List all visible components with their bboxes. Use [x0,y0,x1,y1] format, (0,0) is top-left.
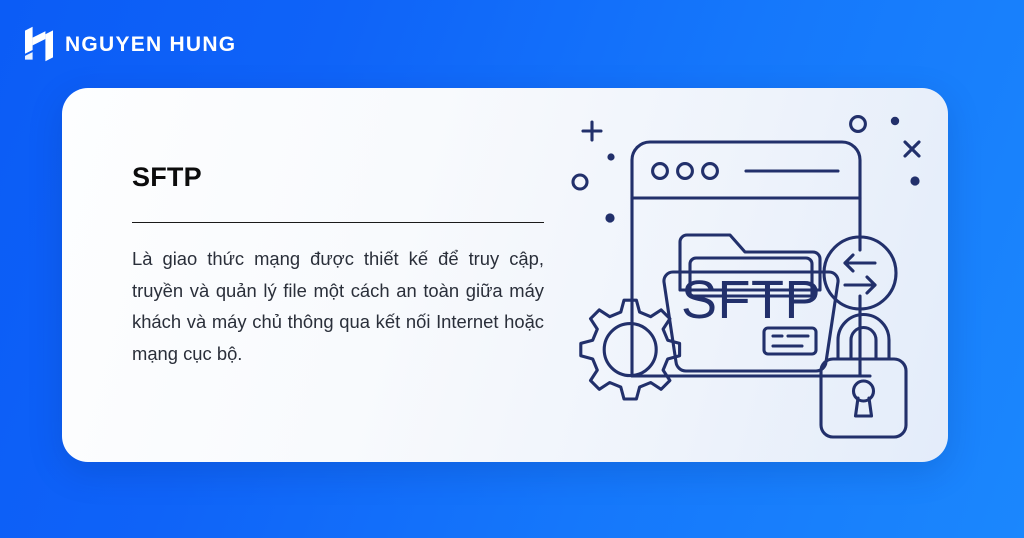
browser-dot-icon [703,164,718,179]
description-text: Là giao thức mạng được thiết kế để truy … [132,243,544,370]
brand-logo[interactable]: NGUYEN HUNG [24,26,236,62]
dot-sparkle-icon [910,176,919,185]
browser-dot-icon [653,164,668,179]
dot-sparkle-icon [605,213,614,222]
circle-sparkle-icon [851,117,866,132]
title-divider [132,222,544,223]
slide-canvas: NGUYEN HUNG SFTP Là giao thức mạng được … [0,0,1024,538]
content-card: SFTP Là giao thức mạng được thiết kế để … [62,88,948,462]
folder-label: SFTP [681,270,821,330]
circle-sparkle-icon [573,175,587,189]
text-column: SFTP Là giao thức mạng được thiết kế để … [132,164,544,388]
browser-dot-icon [678,164,693,179]
dot-sparkle-icon [607,153,614,160]
nh-monogram-icon [24,26,54,62]
brand-name: NGUYEN HUNG [65,34,236,55]
sftp-illustration: SFTP [570,100,948,452]
page-title: SFTP [132,164,544,191]
gear-icon [581,300,680,399]
dot-sparkle-icon [891,117,899,125]
document-card-icon [764,328,816,354]
